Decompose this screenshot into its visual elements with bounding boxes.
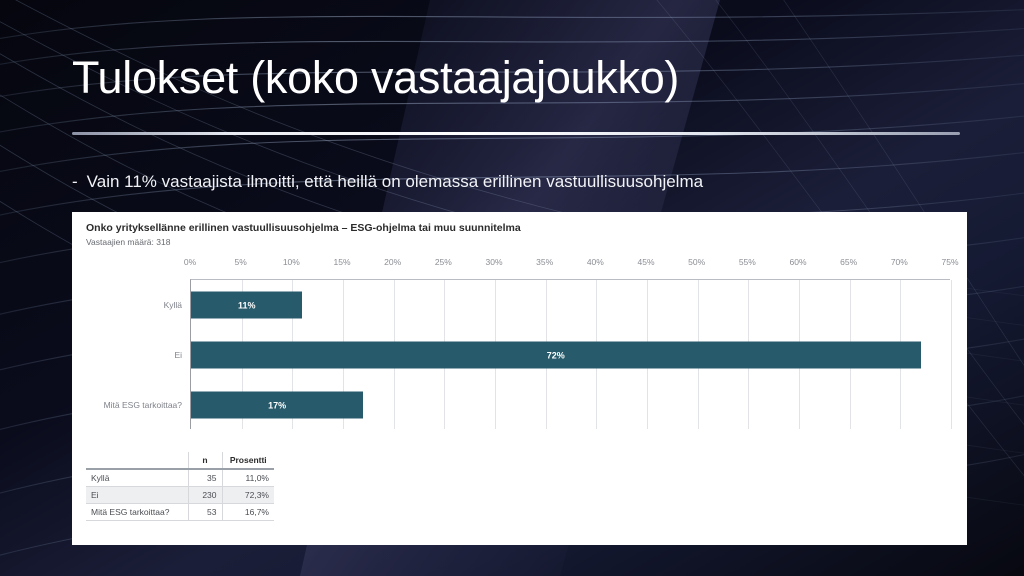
bar: 72% [191,342,921,369]
x-tick-label: 65% [840,257,857,267]
table-header-blank [86,452,188,469]
category-label: Ei [174,350,191,360]
table-cell-percent: 72,3% [222,487,274,504]
bar-value-label: 72% [547,350,565,360]
table-header-percent: Prosentti [222,452,274,469]
x-tick-label: 75% [941,257,958,267]
x-tick-label: 5% [235,257,247,267]
x-tick-label: 45% [637,257,654,267]
table-row: Kyllä3511,0% [86,469,274,487]
table-header: n Prosentti [86,452,274,469]
x-tick-label: 60% [789,257,806,267]
x-tick-label: 20% [384,257,401,267]
gridline [951,280,952,429]
table-cell-percent: 11,0% [222,469,274,487]
data-table: n Prosentti Kyllä3511,0%Ei23072,3%Mitä E… [86,452,274,521]
x-tick-label: 50% [688,257,705,267]
bullet-text: Vain 11% vastaajista ilmoitti, että heil… [87,172,703,192]
table-cell-percent: 16,7% [222,504,274,521]
bar: 11% [191,292,302,319]
table-row: Ei23072,3% [86,487,274,504]
presentation-slide: Tulokset (koko vastaajajoukko) - Vain 11… [0,0,1024,576]
x-tick-label: 25% [435,257,452,267]
table-cell-n: 53 [188,504,222,521]
chart-subtitle: Vastaajien määrä: 318 [86,237,170,247]
x-tick-label: 10% [283,257,300,267]
x-tick-label: 0% [184,257,196,267]
bar-value-label: 17% [268,400,286,410]
chart-title: Onko yrityksellänne erillinen vastuullis… [86,222,521,234]
table-cell-n: 35 [188,469,222,487]
table-row: Mitä ESG tarkoittaa?5316,7% [86,504,274,521]
table-cell-label: Ei [86,487,188,504]
page-title: Tulokset (koko vastaajajoukko) [72,52,679,104]
bar-value-label: 11% [238,300,256,310]
bullet-marker: - [72,173,78,190]
table-header-row: n Prosentti [86,452,274,469]
x-tick-label: 70% [891,257,908,267]
plot-area: Kyllä11%Ei72%Mitä ESG tarkoittaa?17% [190,279,950,429]
x-tick-label: 30% [485,257,502,267]
x-axis-ticks: 0%5%10%15%20%25%30%35%40%45%50%55%60%65%… [190,257,950,275]
table-header-n: n [188,452,222,469]
bar: 17% [191,392,363,419]
title-divider [72,132,960,135]
x-tick-label: 15% [333,257,350,267]
category-label: Mitä ESG tarkoittaa? [104,400,191,410]
x-tick-label: 40% [587,257,604,267]
chart-panel: Onko yrityksellänne erillinen vastuullis… [72,212,967,545]
category-label: Kyllä [164,300,191,310]
x-tick-label: 35% [536,257,553,267]
chart-body: 0%5%10%15%20%25%30%35%40%45%50%55%60%65%… [72,257,967,442]
table-cell-label: Mitä ESG tarkoittaa? [86,504,188,521]
table-body: Kyllä3511,0%Ei23072,3%Mitä ESG tarkoitta… [86,469,274,521]
table-cell-label: Kyllä [86,469,188,487]
bullet-item: - Vain 11% vastaajista ilmoitti, että he… [72,172,703,192]
table-cell-n: 230 [188,487,222,504]
x-tick-label: 55% [739,257,756,267]
